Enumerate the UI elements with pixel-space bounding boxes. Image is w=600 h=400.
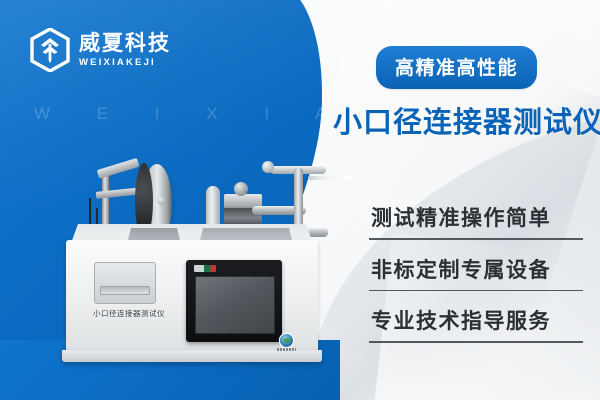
machine-hmi-panel <box>186 260 282 342</box>
machine-left-arm-upper <box>97 158 140 179</box>
list-item: 非标定制专属设备 <box>369 250 587 292</box>
certification-badge <box>280 334 293 347</box>
feature-label: 专业技术指导服务 <box>369 301 587 341</box>
product-machine: 小口径连接器测试仪 <box>56 158 326 370</box>
feature-list: 测试精准操作简单 非标定制专属设备 专业技术指导服务 <box>369 198 587 353</box>
machine-base <box>62 350 322 362</box>
feature-label: 非标定制专属设备 <box>369 250 587 290</box>
machine-drum-hub <box>157 196 166 205</box>
brand-name-en: WEIXIAKEJI <box>79 58 171 68</box>
certification-badge-text <box>277 348 296 351</box>
machine-probe-needle <box>308 176 354 180</box>
machine-access-slot <box>100 286 150 295</box>
machine-right-knob <box>234 182 248 196</box>
hero-badge: 高精准高性能 <box>376 46 537 89</box>
machine-swing-knob <box>262 161 274 173</box>
hmi-brand-strip <box>194 265 216 272</box>
product-banner: 威夏科技 WEIXIAKEJI W E I X I A K E J I 高精准高… <box>0 0 600 400</box>
feature-divider <box>369 341 583 343</box>
feature-divider <box>369 290 583 292</box>
machine-front-label: 小口径连接器测试仪 <box>74 308 184 319</box>
hmi-screen <box>195 276 275 334</box>
brand-logo: 威夏科技 WEIXIAKEJI <box>30 28 171 72</box>
brand-logo-text: 威夏科技 WEIXIAKEJI <box>79 33 171 68</box>
hexagon-shield-icon <box>30 28 70 72</box>
feature-divider <box>369 238 583 240</box>
machine-access-plate <box>94 262 156 304</box>
brand-name-cn: 威夏科技 <box>79 33 171 54</box>
page-title: 小口径连接器测试仪 <box>333 99 600 141</box>
list-item: 测试精准操作简单 <box>369 198 587 240</box>
list-item: 专业技术指导服务 <box>369 301 587 343</box>
feature-label: 测试精准操作简单 <box>369 198 587 238</box>
